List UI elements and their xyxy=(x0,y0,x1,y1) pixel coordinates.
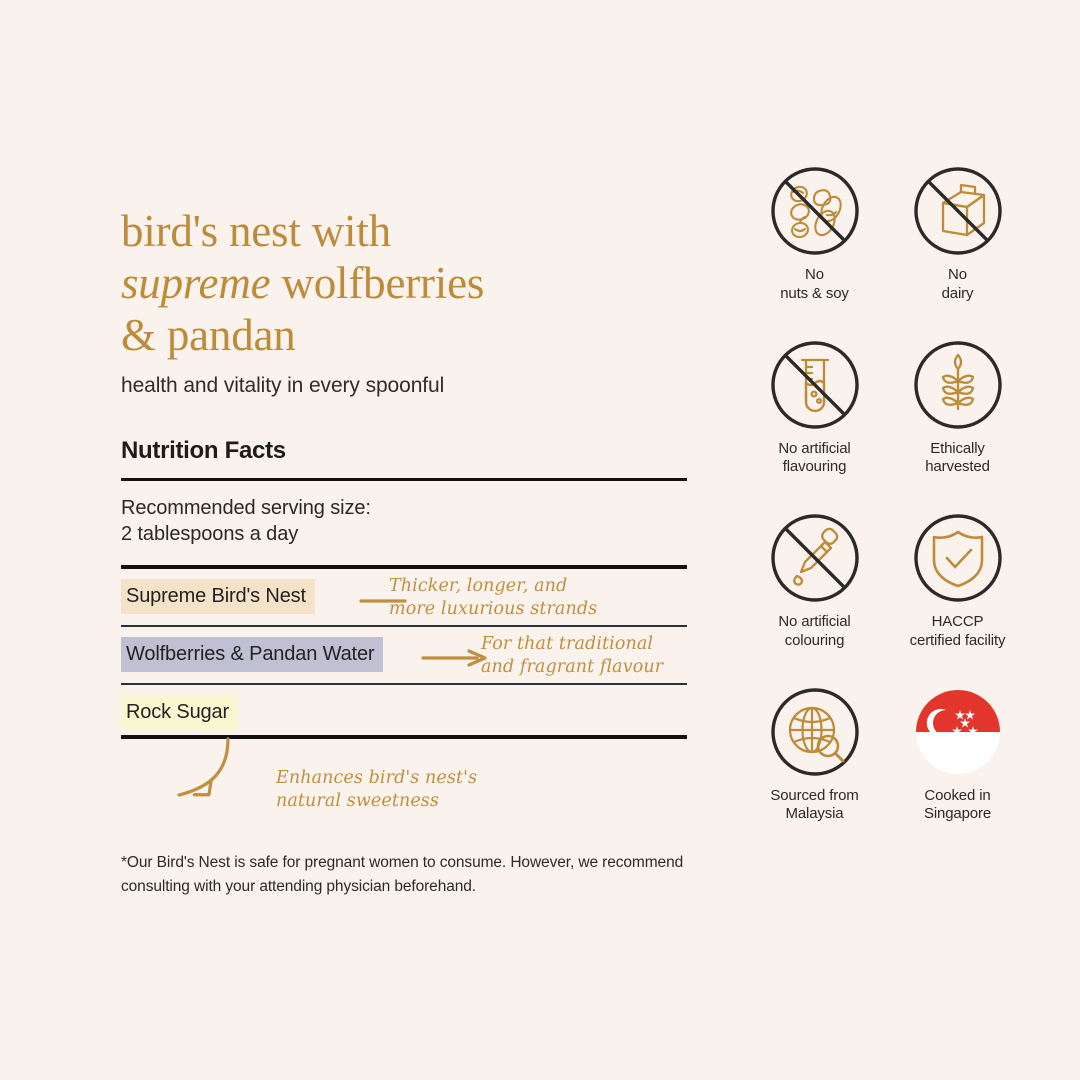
badge-ethically-harvested: Ethically harvested xyxy=(895,339,1020,478)
dropper-icon xyxy=(769,512,861,604)
divider-after-ingredient-1 xyxy=(121,625,687,627)
nuts-icon xyxy=(769,165,861,257)
ingredient-label: Supreme Bird's Nest xyxy=(121,579,315,614)
ingredient-row-supreme-birds-nest: Supreme Bird's Nest Thicker, longer, and… xyxy=(121,579,701,625)
badge-label: Sourced from Malaysia xyxy=(770,787,858,825)
ingredient-note: Thicker, longer, and more luxurious stra… xyxy=(389,575,597,621)
badge-cooked-singapore: Cooked in Singapore xyxy=(895,686,1020,825)
badge-no-artificial-colouring: No artificial colouring xyxy=(752,512,877,651)
footnote-text: *Our Bird's Nest is safe for pregnant wo… xyxy=(121,851,701,898)
badge-no-artificial-flavouring: No artificial flavouring xyxy=(752,339,877,478)
badge-sourced-malaysia: Sourced from Malaysia xyxy=(752,686,877,825)
divider-under-heading xyxy=(121,478,687,481)
title-line-1: bird's nest with xyxy=(121,206,391,256)
connector-straight-arrow-icon xyxy=(421,649,489,667)
badge-label: No artificial flavouring xyxy=(778,440,850,478)
singapore-flag-icon xyxy=(912,686,1004,778)
ingredient-note: Enhances bird's nest's natural sweetness xyxy=(276,767,477,813)
title-line-3: & pandan xyxy=(121,310,296,360)
ingredient-label: Rock Sugar xyxy=(121,695,238,730)
product-info-panel: bird's nest with supreme wolfberries & p… xyxy=(121,205,701,898)
shield-check-icon xyxy=(912,512,1004,604)
nutrition-facts-heading: Nutrition Facts xyxy=(121,437,701,465)
ingredient-row-wolfberries-pandan: Wolfberries & Pandan Water For that trad… xyxy=(121,637,701,683)
badge-label: No nuts & soy xyxy=(780,266,849,304)
title-emphasis: supreme xyxy=(121,258,270,308)
badge-no-dairy: No dairy xyxy=(895,165,1020,304)
title-line-2-rest: wolfberries xyxy=(270,258,484,308)
wheat-icon xyxy=(912,339,1004,431)
subtitle: health and vitality in every spoonful xyxy=(121,374,701,398)
badge-haccp-certified: HACCP certified facility xyxy=(895,512,1020,651)
globe-search-icon xyxy=(769,686,861,778)
divider-after-ingredient-2 xyxy=(121,683,687,685)
divider-above-ingredients xyxy=(121,565,687,569)
badge-no-nuts-soy: No nuts & soy xyxy=(752,165,877,304)
badge-label: No artificial colouring xyxy=(778,613,850,651)
serving-line-1: Recommended serving size: xyxy=(121,497,371,519)
ingredient-row-rock-sugar: Rock Sugar xyxy=(121,695,701,735)
ingredient-note: For that traditional and fragrant flavou… xyxy=(481,633,663,679)
milk-carton-icon xyxy=(912,165,1004,257)
certification-badge-grid: No nuts & soy No dairy xyxy=(752,165,1020,824)
badge-label: Ethically harvested xyxy=(925,440,990,478)
badge-label: No dairy xyxy=(942,266,974,304)
badge-label: Cooked in Singapore xyxy=(924,787,991,825)
serving-line-2: 2 tablespoons a day xyxy=(121,523,298,545)
ingredient-label: Wolfberries & Pandan Water xyxy=(121,637,383,672)
page-title: bird's nest with supreme wolfberries & p… xyxy=(121,205,701,362)
serving-size-text: Recommended serving size:2 tablespoons a… xyxy=(121,495,701,548)
connector-curved-arrow-icon xyxy=(123,737,283,815)
badge-label: HACCP certified facility xyxy=(910,613,1006,651)
rock-sugar-annotation-group: Enhances bird's nest's natural sweetness xyxy=(121,739,701,813)
test-tube-icon xyxy=(769,339,861,431)
